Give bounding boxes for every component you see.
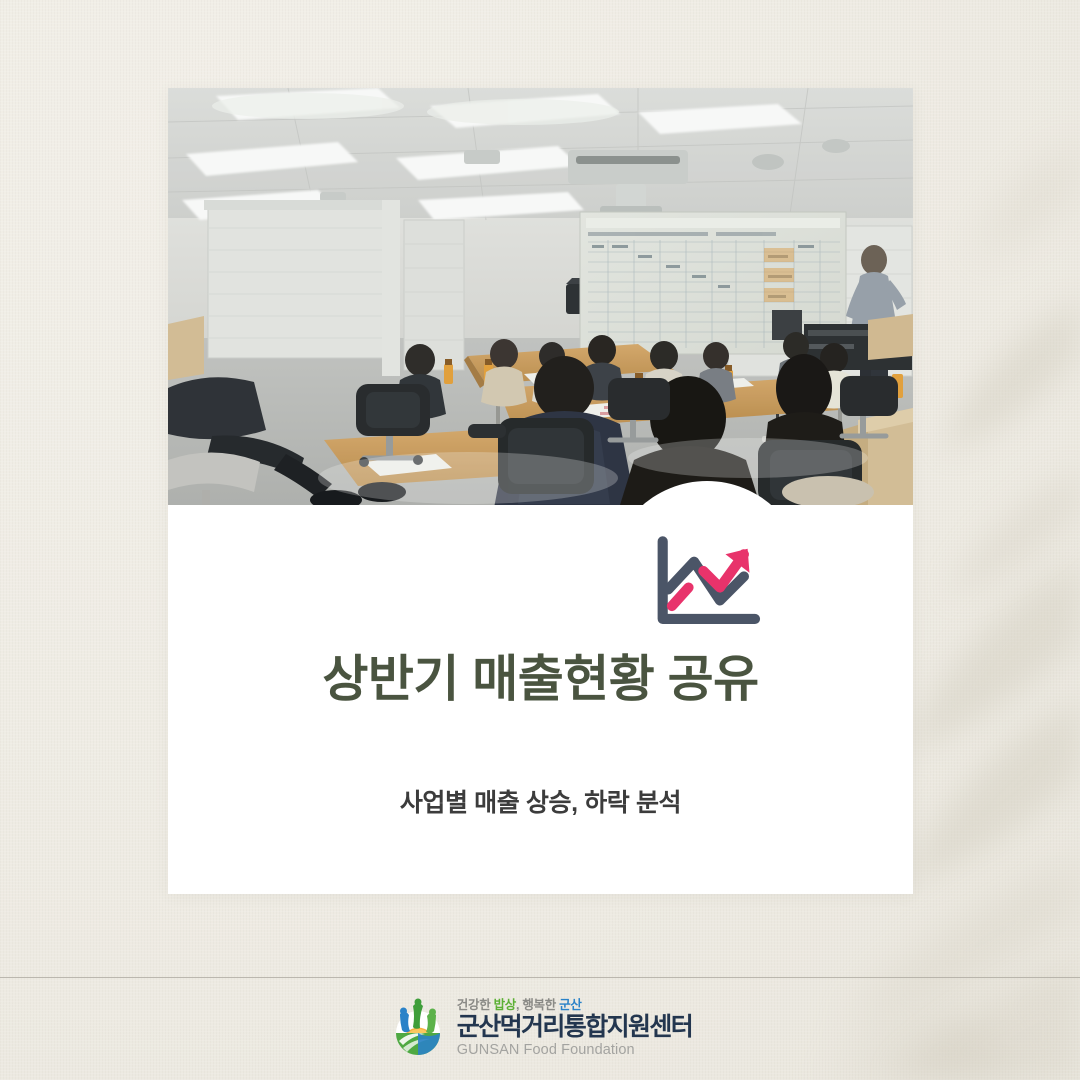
logo-name-en: GUNSAN Food Foundation	[457, 1041, 692, 1059]
logo-tagline: 건강한 밥상, 행복한 군산	[457, 999, 692, 1012]
logo-mark-icon	[388, 998, 448, 1060]
tagline-part-4: 군산	[559, 998, 581, 1012]
tagline-part-3: , 행복한	[516, 998, 556, 1012]
line-chart-trend-icon	[651, 534, 763, 630]
meeting-photo	[168, 88, 913, 505]
content-card: 상반기 매출현황 공유 사업별 매출 상승, 하락 분석	[168, 88, 913, 894]
page-subtitle: 사업별 매출 상승, 하락 분석	[168, 783, 913, 819]
footer: 건강한 밥상, 행복한 군산 군산먹거리통합지원센터 GUNSAN Food F…	[0, 978, 1080, 1080]
tagline-part-1: 건강한	[457, 998, 491, 1012]
logo-name-ko: 군산먹거리통합지원센터	[457, 1014, 692, 1040]
text-block: 상반기 매출현황 공유 사업별 매출 상승, 하락 분석	[168, 648, 913, 819]
page-title: 상반기 매출현황 공유	[168, 648, 913, 711]
logo-text: 건강한 밥상, 행복한 군산 군산먹거리통합지원센터 GUNSAN Food F…	[457, 999, 692, 1060]
tagline-part-2: 밥상	[494, 998, 516, 1012]
organization-logo: 건강한 밥상, 행복한 군산 군산먹거리통합지원센터 GUNSAN Food F…	[388, 998, 692, 1060]
